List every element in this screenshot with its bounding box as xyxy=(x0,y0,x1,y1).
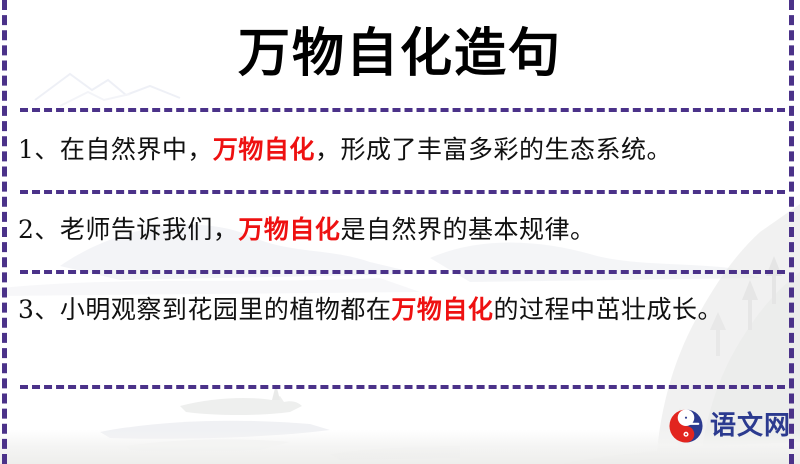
site-logo[interactable]: 语文网 xyxy=(668,408,791,444)
page-border-right xyxy=(789,0,794,464)
sentence-index: 2、 xyxy=(18,215,60,244)
sentence-item: 2、老师告诉我们，万物自化是自然界的基本规律。 xyxy=(18,206,768,253)
page-border-left xyxy=(2,0,7,464)
sentence-keyword: 万物自化 xyxy=(391,295,493,324)
separator-under-title xyxy=(20,108,785,112)
separator-after-sentence-3 xyxy=(20,385,785,389)
sentence-item: 3、小明观察到花园里的植物都在万物自化的过程中茁壮成长。 xyxy=(18,286,768,333)
sentence-index: 1、 xyxy=(18,135,60,164)
sentence-keyword: 万物自化 xyxy=(238,215,340,244)
watermark-ink-wash-boat xyxy=(40,380,460,464)
sentence-text-before: 小明观察到花园里的植物都在 xyxy=(60,295,392,324)
separator-after-sentence-2 xyxy=(20,270,785,274)
separator-after-sentence-1 xyxy=(20,190,785,194)
sentence-text-before: 老师告诉我们， xyxy=(60,215,239,244)
sentence-index: 3、 xyxy=(18,295,60,324)
document-page: 万物自化造句 1、在自然界中，万物自化，形成了丰富多彩的生态系统。 2、老师告诉… xyxy=(0,0,800,464)
sentence-text-after: ，形成了丰富多彩的生态系统。 xyxy=(315,135,672,164)
sentence-text-after: 是自然界的基本规律。 xyxy=(340,215,595,244)
sentence-item: 1、在自然界中，万物自化，形成了丰富多彩的生态系统。 xyxy=(18,126,768,173)
yin-yang-emblem-icon xyxy=(668,408,704,444)
site-logo-text: 语文网 xyxy=(710,411,791,441)
sentence-text-before: 在自然界中， xyxy=(60,135,213,164)
sentence-text-after: 的过程中茁壮成长。 xyxy=(493,295,723,324)
page-title: 万物自化造句 xyxy=(0,18,800,90)
sentence-keyword: 万物自化 xyxy=(213,135,315,164)
